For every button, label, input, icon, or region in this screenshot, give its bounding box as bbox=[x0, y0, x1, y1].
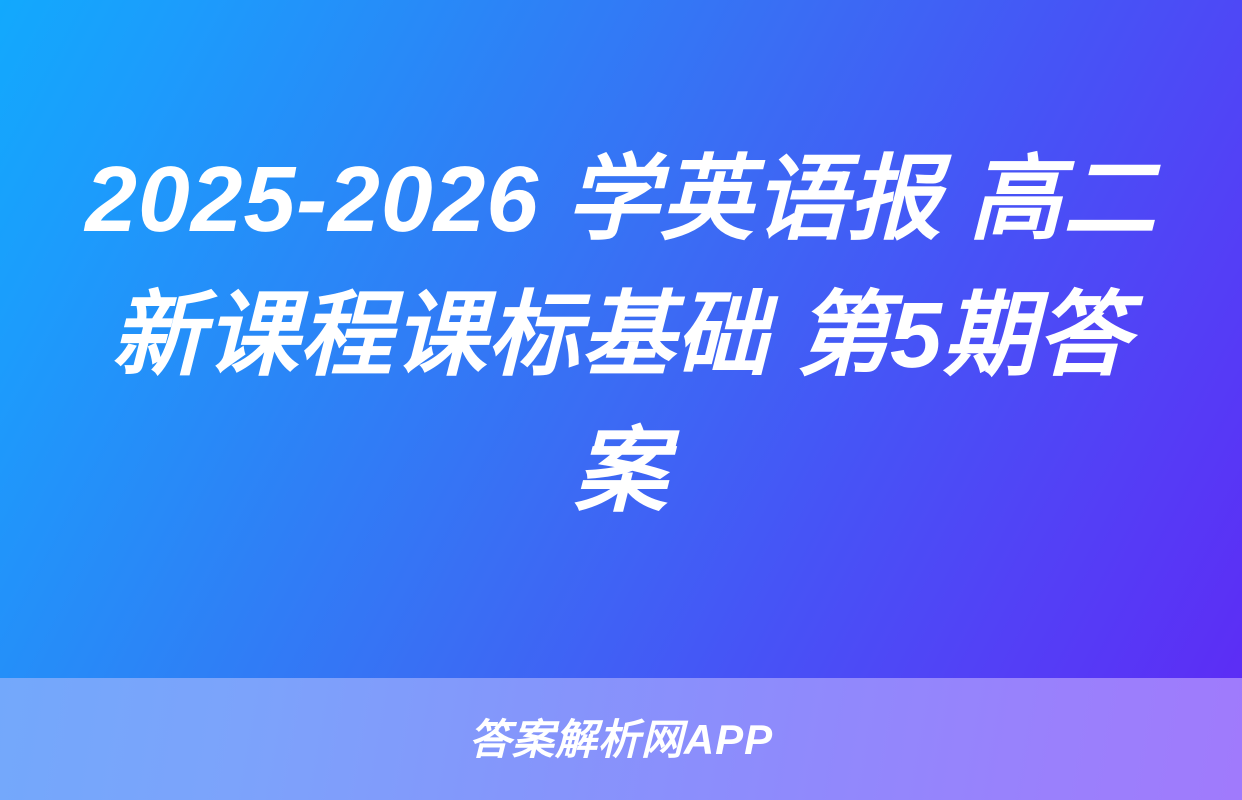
app-watermark-label: 答案解析网APP bbox=[469, 719, 773, 761]
hero-panel: 2025-2026 学英语报 高二 新课程课标基础 第5期答案 bbox=[0, 0, 1242, 678]
title-card: 2025-2026 学英语报 高二 新课程课标基础 第5期答案 答案解析网APP bbox=[0, 0, 1242, 800]
watermark-banner: 答案解析网APP bbox=[0, 678, 1242, 800]
page-title: 2025-2026 学英语报 高二 新课程课标基础 第5期答案 bbox=[69, 131, 1174, 539]
